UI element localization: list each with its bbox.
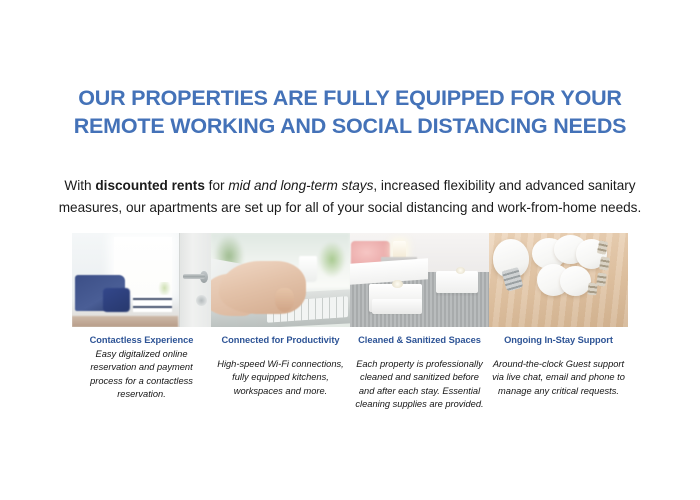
feature-title-support: Ongoing In-Stay Support (492, 334, 625, 347)
bulb-screw-base-4 (587, 283, 597, 296)
greenery-right (318, 241, 346, 279)
intro-text-part-1: With (64, 178, 95, 193)
intro-paragraph: With discounted rents for mid and long-t… (45, 175, 655, 219)
door-handle-icon (183, 274, 205, 279)
door-lock-icon (196, 295, 207, 306)
intro-text-part-2: for (205, 178, 228, 193)
bulb-cluster (531, 235, 609, 308)
feature-caption-contactless: Contactless Experience Easy digitalized … (72, 334, 211, 412)
feature-body-sanitized: Each property is professionally cleaned … (353, 358, 486, 412)
feature-image-strip (72, 233, 628, 327)
feature-caption-sanitized: Cleaned & Sanitized Spaces Each property… (350, 334, 489, 412)
feature-caption-productivity: Connected for Productivity High-speed Wi… (211, 334, 350, 412)
feature-title-contactless: Contactless Experience (75, 334, 208, 347)
feature-title-sanitized: Cleaned & Sanitized Spaces (353, 334, 486, 347)
contactless-entry-photo (72, 233, 211, 327)
headline-line-1: OUR PROPERTIES ARE FULLY EQUIPPED FOR YO… (50, 84, 650, 112)
intro-italic-stays: mid and long-term stays (228, 178, 373, 193)
room-cushion (103, 288, 131, 312)
feature-captions: Contactless Experience Easy digitalized … (72, 334, 628, 412)
intro-bold-discounted-rents: discounted rents (95, 178, 205, 193)
headline-line-2: REMOTE WORKING AND SOCIAL DISTANCING NEE… (50, 112, 650, 140)
bulb-screw-base-2 (599, 256, 610, 270)
folded-towels-photo (350, 233, 489, 327)
feature-caption-support: Ongoing In-Stay Support Around-the-clock… (489, 334, 628, 412)
feature-body-contactless: Easy digitalized online reservation and … (75, 348, 208, 402)
feature-body-productivity: High-speed Wi-Fi connections, fully equi… (214, 358, 347, 398)
feature-body-support: Around-the-clock Guest support via live … (492, 358, 625, 398)
light-bulbs-photo (489, 233, 628, 327)
room-floor (72, 316, 178, 327)
laptop-typing-photo (211, 233, 350, 327)
feature-title-productivity: Connected for Productivity (214, 334, 347, 347)
room-bench (133, 295, 172, 312)
towel-stack-front-lower (372, 299, 422, 314)
bedside-lamp (393, 241, 406, 258)
page-headline: OUR PROPERTIES ARE FULLY EQUIPPED FOR YO… (50, 84, 650, 140)
towel-stack-back (436, 271, 478, 294)
bulb-screw-base-3 (596, 272, 606, 286)
